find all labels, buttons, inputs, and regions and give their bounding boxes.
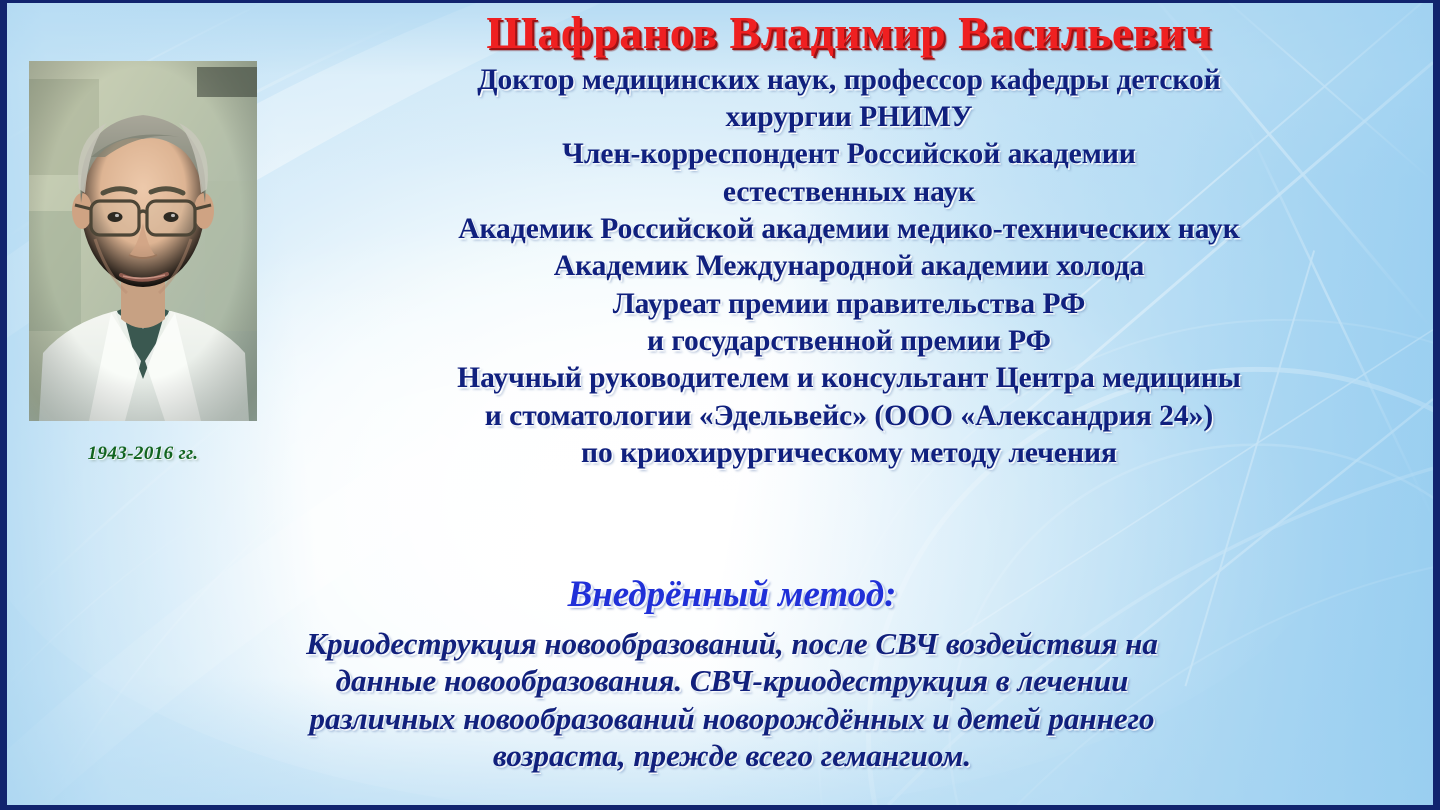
portrait-caption: 1943-2016 гг.: [29, 443, 257, 465]
portrait-photo: [29, 61, 257, 421]
method-section: Внедрённый метод: Криодеструкция новообр…: [67, 575, 1397, 775]
page-title: Шафранов Владимир Васильевич: [265, 9, 1433, 58]
credential-line: Академик Международной академии холода: [265, 248, 1433, 285]
method-body-line: Криодеструкция новообразований, после СВ…: [67, 625, 1397, 663]
credential-academician-cold: Академик Международной академии холода: [265, 248, 1433, 285]
credentials-list: Доктор медицинских наук, профессор кафед…: [265, 62, 1433, 472]
method-body-line: возраста, прежде всего гемангиом.: [67, 737, 1397, 775]
credential-line: и государственной премии РФ: [265, 323, 1433, 360]
credential-line: Член-корреспондент Российской академии: [265, 136, 1433, 173]
method-body-line: различных новообразований новорождённых …: [67, 700, 1397, 738]
credential-line: Доктор медицинских наук, профессор кафед…: [265, 62, 1433, 99]
credential-corresponding-member: Член-корреспондент Российской академии е…: [265, 136, 1433, 211]
credential-line: и стоматологии «Эдельвейс» (ООО «Алексан…: [265, 398, 1433, 435]
portrait-illustration: [29, 61, 257, 421]
credential-line: по криохирургическому методу лечения: [265, 435, 1433, 472]
credential-laureate: Лауреат премии правительства РФ и госуда…: [265, 286, 1433, 361]
credential-line: хирургии РНИМУ: [265, 99, 1433, 136]
credential-degree: Доктор медицинских наук, профессор кафед…: [265, 62, 1433, 137]
credential-academician-medtech: Академик Российской академии медико-техн…: [265, 211, 1433, 248]
credential-line: Лауреат премии правительства РФ: [265, 286, 1433, 323]
method-heading: Внедрённый метод:: [67, 575, 1397, 616]
credential-line: Академик Российской академии медико-техн…: [265, 211, 1433, 248]
slide-canvas: 1943-2016 гг. Шафранов Владимир Васильев…: [0, 0, 1440, 810]
credential-scientific-director: Научный руководителем и консультант Цент…: [265, 360, 1433, 472]
method-body-line: данные новообразования. СВЧ-криодеструкц…: [67, 662, 1397, 700]
credential-line: естественных наук: [265, 174, 1433, 211]
credential-line: Научный руководителем и консультант Цент…: [265, 360, 1433, 397]
portrait-block: 1943-2016 гг.: [29, 61, 257, 421]
method-body: Криодеструкция новообразований, после СВ…: [67, 625, 1397, 775]
text-column: Шафранов Владимир Васильевич Доктор меди…: [265, 9, 1433, 472]
